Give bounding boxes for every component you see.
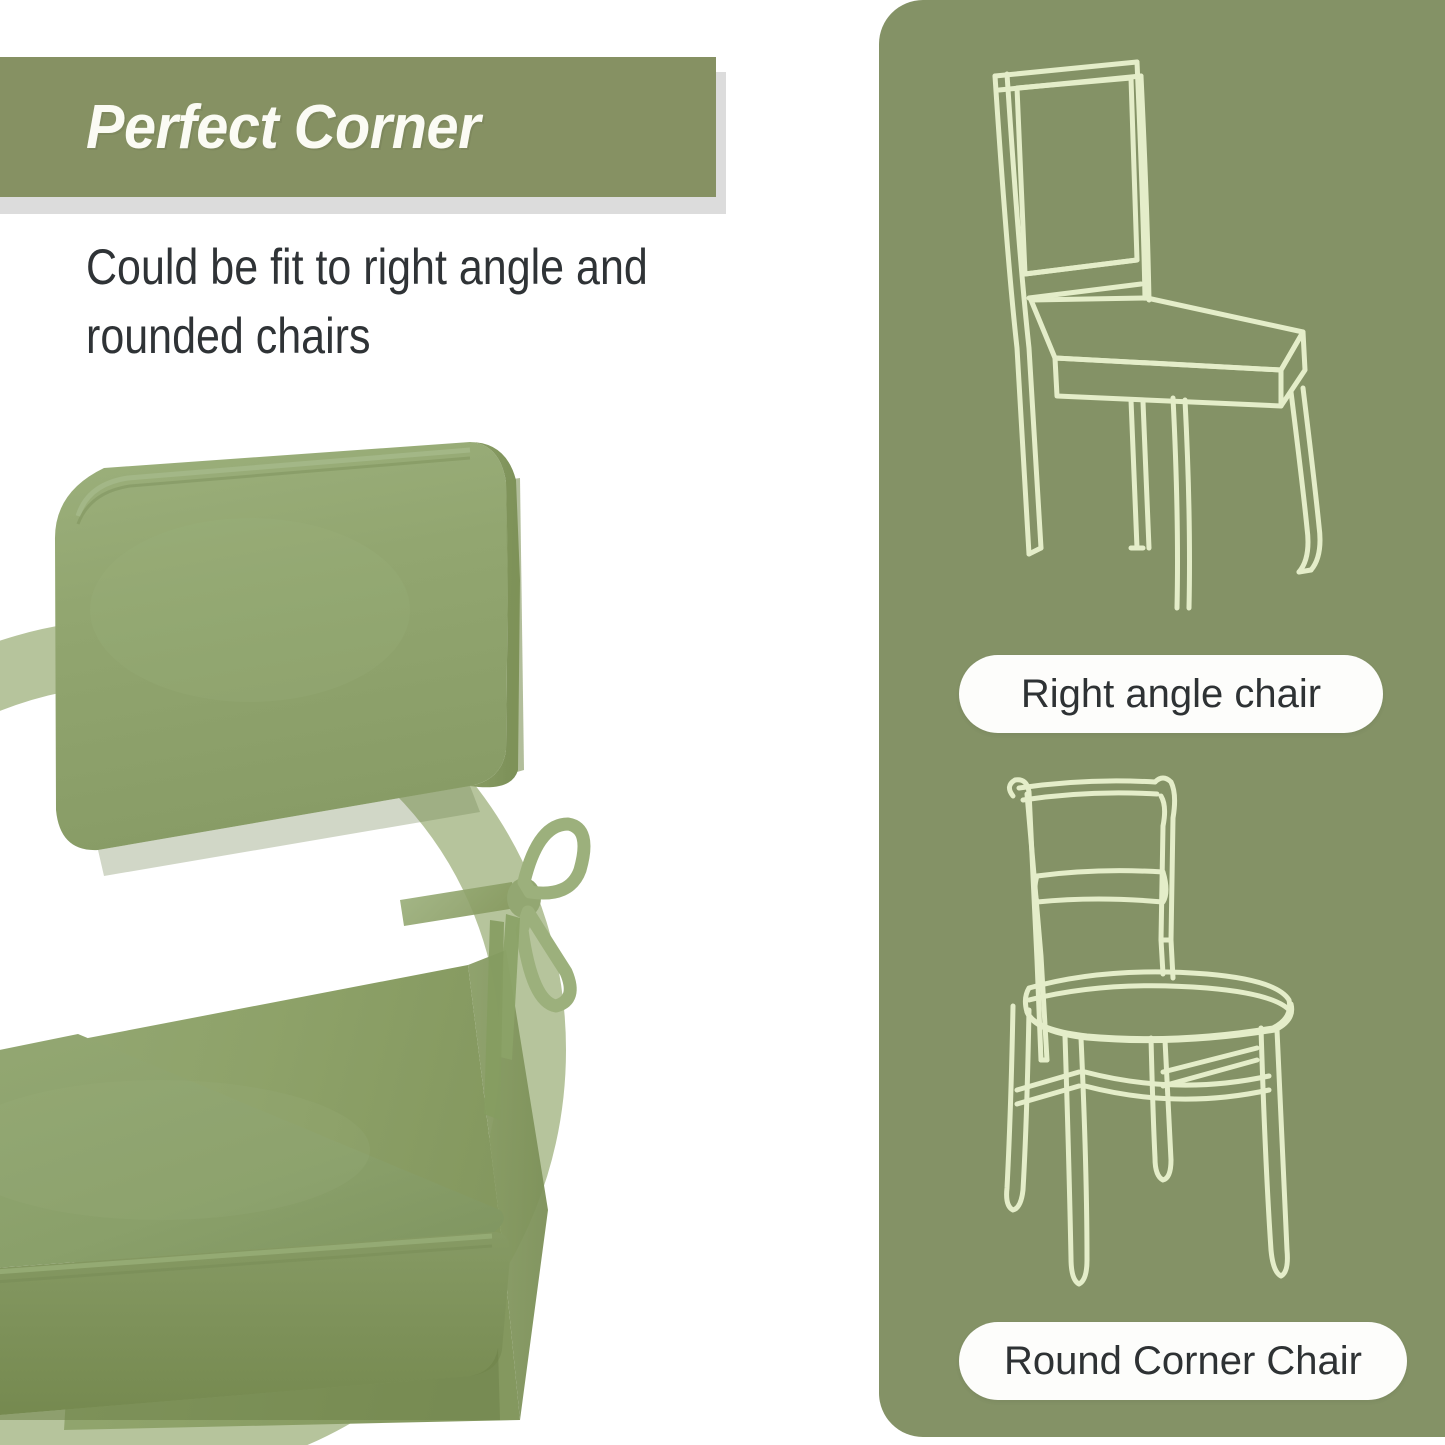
right-angle-chair-line-drawing bbox=[951, 48, 1371, 638]
cushion-product-photo bbox=[0, 420, 660, 1445]
chair-types-panel: Right angle chair bbox=[879, 0, 1445, 1437]
round-corner-chair-line-drawing bbox=[957, 760, 1377, 1320]
right-angle-chair-label: Right angle chair bbox=[959, 655, 1383, 733]
round-corner-chair-label-text: Round Corner Chair bbox=[1004, 1339, 1362, 1384]
left-content-column: Perfect Corner Could be fit to right ang… bbox=[0, 0, 880, 1445]
right-angle-chair-label-text: Right angle chair bbox=[1021, 672, 1321, 717]
subtitle-text: Could be fit to right angle and rounded … bbox=[86, 233, 748, 371]
page-title: Perfect Corner bbox=[86, 92, 480, 163]
title-banner: Perfect Corner bbox=[0, 57, 716, 197]
round-corner-chair-label: Round Corner Chair bbox=[959, 1322, 1407, 1400]
product-feature-image: Perfect Corner Could be fit to right ang… bbox=[0, 0, 1445, 1445]
